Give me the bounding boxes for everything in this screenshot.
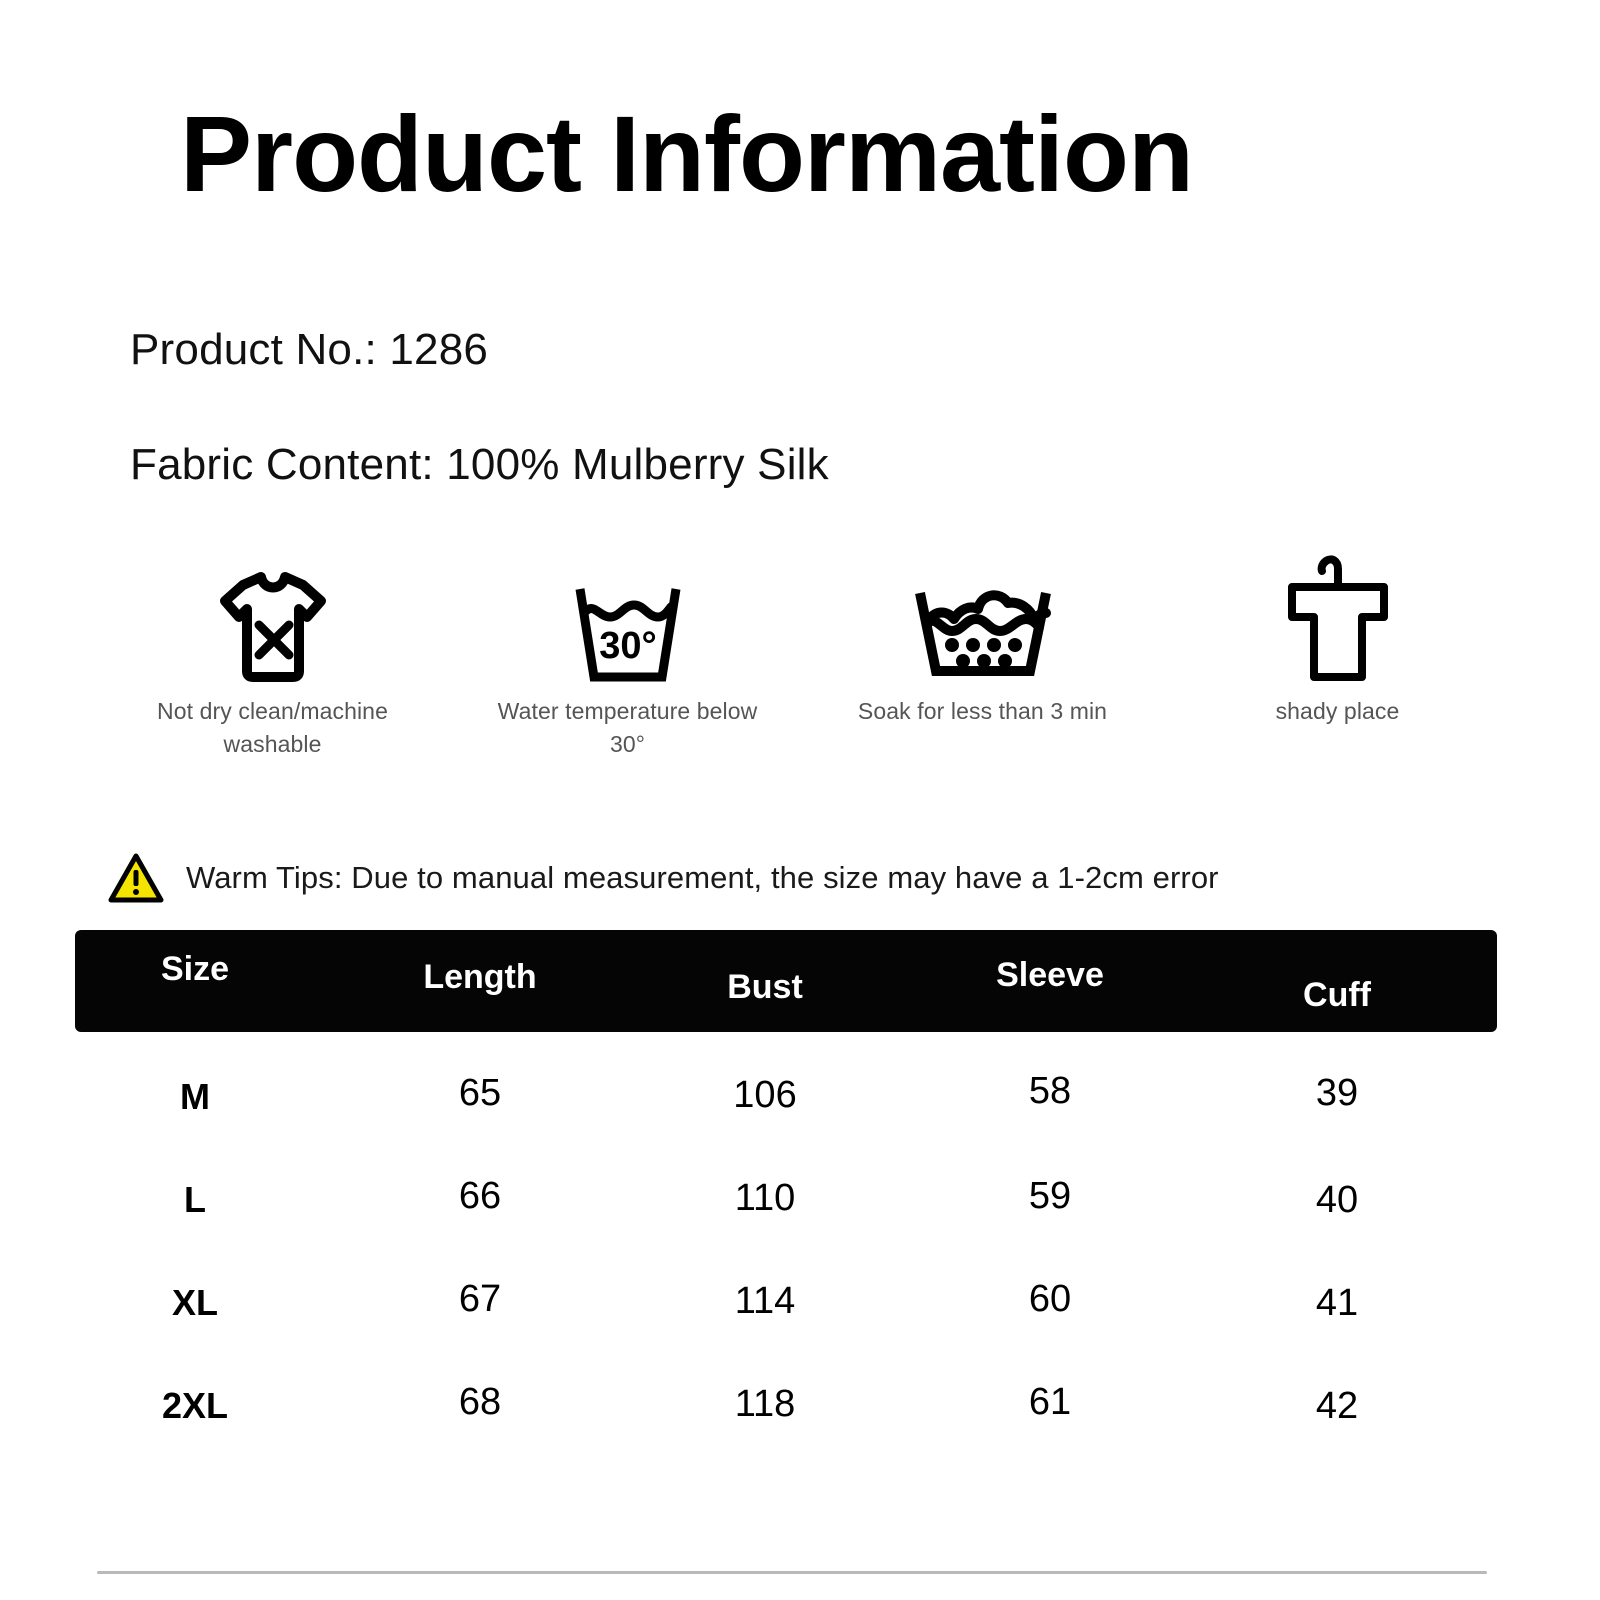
cell-length: 66 (459, 1175, 501, 1218)
table-body: M 65 106 58 39 L 66 110 59 40 XL 67 114 … (75, 1032, 1497, 1444)
cell-sleeve: 59 (1029, 1175, 1071, 1218)
cell-sleeve: 61 (1029, 1381, 1071, 1424)
column-header-bust: Bust (727, 968, 803, 1007)
table-header-row: Size Length Bust Sleeve Cuff (75, 930, 1497, 1032)
cell-bust: 106 (733, 1074, 796, 1117)
column-header-cuff: Cuff (1303, 976, 1371, 1015)
cell-size: M (180, 1076, 210, 1118)
wash-tub-temperature-icon: 30° (564, 545, 692, 685)
page-title: Product Information (180, 95, 1193, 214)
cell-length: 65 (459, 1072, 501, 1115)
care-item-soak: Soak for less than 3 min (805, 545, 1160, 728)
table-row: XL 67 114 60 41 (75, 1238, 1497, 1341)
care-item-water-temperature: 30° Water temperature below 30° (450, 545, 805, 762)
cell-size: 2XL (162, 1385, 228, 1427)
tshirt-no-wash-icon (209, 545, 337, 685)
cell-cuff: 40 (1316, 1179, 1358, 1222)
product-information-page: Product Information Product No.: 1286 Fa… (0, 0, 1600, 1600)
column-header-length: Length (423, 958, 536, 997)
care-caption: shady place (1276, 695, 1400, 728)
table-row: 2XL 68 118 61 42 (75, 1341, 1497, 1444)
cell-sleeve: 60 (1029, 1278, 1071, 1321)
warning-triangle-icon (108, 852, 164, 904)
care-item-shady-place: shady place (1160, 545, 1515, 728)
column-header-sleeve: Sleeve (996, 956, 1104, 995)
table-row: L 66 110 59 40 (75, 1135, 1497, 1238)
cell-bust: 114 (735, 1280, 796, 1323)
cell-length: 67 (459, 1278, 501, 1321)
cell-size: XL (172, 1282, 218, 1324)
table-row: M 65 106 58 39 (75, 1032, 1497, 1135)
care-item-no-dry-clean: Not dry clean/machine washable (95, 545, 450, 762)
fabric-content-text: Fabric Content: 100% Mulberry Silk (130, 440, 829, 490)
bottom-divider (97, 1571, 1487, 1574)
care-caption: Water temperature below 30° (478, 695, 778, 762)
column-header-size: Size (161, 950, 229, 989)
cell-size: L (184, 1179, 206, 1221)
cell-cuff: 42 (1316, 1385, 1358, 1428)
soak-basin-icon (908, 545, 1058, 685)
size-chart-table: Size Length Bust Sleeve Cuff M 65 106 58… (75, 930, 1497, 1444)
warm-tips-row: Warm Tips: Due to manual measurement, th… (108, 852, 1219, 904)
svg-text:30°: 30° (599, 625, 656, 667)
cell-cuff: 41 (1316, 1282, 1358, 1325)
cell-sleeve: 58 (1029, 1070, 1071, 1113)
cell-bust: 118 (735, 1383, 796, 1426)
care-caption: Not dry clean/machine washable (123, 695, 423, 762)
warm-tips-text: Warm Tips: Due to manual measurement, th… (186, 860, 1219, 896)
product-number-text: Product No.: 1286 (130, 325, 488, 375)
care-caption: Soak for less than 3 min (858, 695, 1107, 728)
cell-cuff: 39 (1316, 1072, 1358, 1115)
cell-bust: 110 (735, 1177, 796, 1220)
hanger-shirt-icon (1274, 545, 1402, 685)
care-instructions-row: Not dry clean/machine washable 30° Water… (95, 545, 1515, 762)
cell-length: 68 (459, 1381, 501, 1424)
